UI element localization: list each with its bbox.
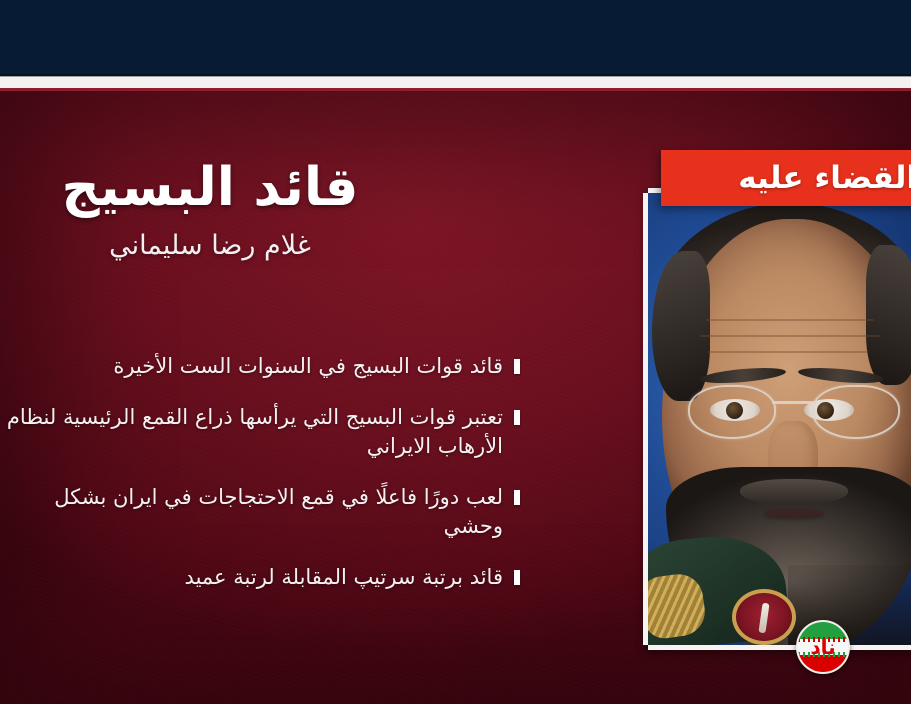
bullet-marker-icon <box>514 359 520 374</box>
mouth <box>764 509 824 517</box>
glasses-bridge <box>772 401 816 404</box>
bullet-marker-icon <box>514 570 520 585</box>
eyeglasses <box>686 385 902 439</box>
list-item: قائد قوات البسيج في السنوات الست الأخيرة <box>0 352 520 381</box>
fact-bullet-list: قائد قوات البسيج في السنوات الست الأخيرة… <box>0 352 520 614</box>
forehead-line <box>700 335 880 337</box>
portrait-photo-frame <box>648 188 911 650</box>
forehead-line <box>706 319 874 321</box>
white-separator-band <box>0 76 911 88</box>
hair-right-side <box>866 245 911 385</box>
forehead-line <box>708 351 868 353</box>
headline-block: قائد البسيج غلام رضا سليماني <box>0 160 520 262</box>
rank-insignia-icon <box>732 589 796 645</box>
lens-right <box>812 385 900 439</box>
bullet-marker-icon <box>514 490 520 505</box>
infographic-canvas: قائد البسيج غلام رضا سليماني قائد قوات ا… <box>0 0 911 704</box>
mustache <box>740 479 848 505</box>
list-item: لعب دورًا فاعلًا في قمع الاحتجاجات في اي… <box>0 483 520 541</box>
iran-flag-badge-icon: ناد <box>796 620 850 674</box>
top-bar-shadow <box>0 74 911 77</box>
top-navy-bar <box>0 0 911 76</box>
list-item: قائد برتبة سرتيپ المقابلة لرتبة عميد <box>0 563 520 592</box>
status-badge-label: القضاء عليه <box>738 163 911 194</box>
page-subtitle: غلام رضا سليماني <box>0 230 520 262</box>
list-item-label: تعتبر قوات البسيج التي يرأسها ذراع القمع… <box>0 403 503 461</box>
list-item-label: قائد برتبة سرتيپ المقابلة لرتبة عميد <box>0 563 503 592</box>
page-title: قائد البسيج <box>0 160 520 216</box>
status-badge: القضاء عليه <box>661 150 911 206</box>
list-item-label: لعب دورًا فاعلًا في قمع الاحتجاجات في اي… <box>0 483 503 541</box>
flag-emblem: ناد <box>810 637 835 657</box>
white-separator-edge <box>0 88 911 91</box>
bullet-marker-icon <box>514 410 520 425</box>
lens-left <box>688 385 776 439</box>
list-item: تعتبر قوات البسيج التي يرأسها ذراع القمع… <box>0 403 520 461</box>
portrait-photo <box>643 193 911 645</box>
list-item-label: قائد قوات البسيج في السنوات الست الأخيرة <box>0 352 503 381</box>
